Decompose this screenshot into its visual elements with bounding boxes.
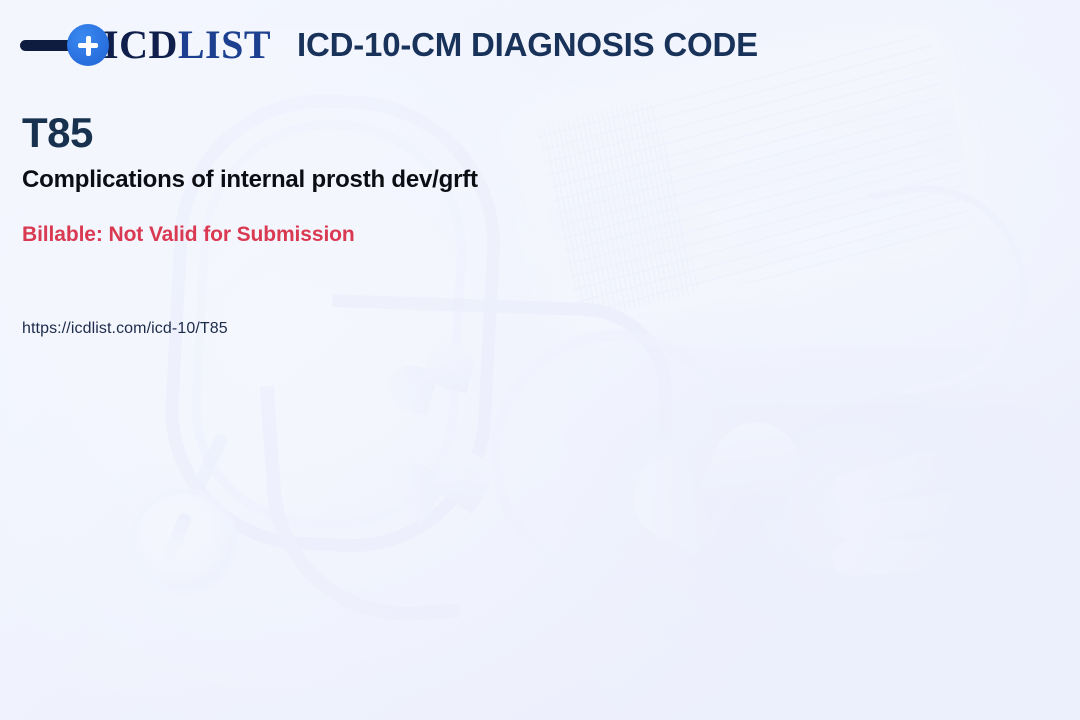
page-title: ICD-10-CM DIAGNOSIS CODE (297, 26, 758, 64)
diagnosis-description: Complications of internal prosth dev/grf… (22, 166, 478, 195)
photo-highlight-left (0, 29, 713, 720)
photo-shadow-bottom (562, 346, 1080, 720)
logo-word-list: LIST (178, 22, 271, 67)
heart-icon (404, 354, 467, 417)
heart-icon (410, 463, 472, 525)
logo-wordmark: ICDLIST (103, 25, 271, 65)
finger-icon (831, 538, 952, 576)
heart-icon (667, 442, 779, 554)
source-url-link[interactable]: https://icdlist.com/icd-10/T85 (22, 320, 228, 338)
hand-icon (727, 367, 1042, 682)
stethoscope-tube-icon (260, 374, 461, 630)
stethoscope-stem-icon (176, 432, 230, 524)
billable-status: Billable: Not Valid for Submission (22, 223, 355, 247)
mask-strap-icon (865, 169, 1042, 395)
finger-icon (828, 446, 951, 511)
icd-code-card: ICDLIST ICD-10-CM DIAGNOSIS CODE T85 Com… (0, 0, 1080, 720)
plus-circle-icon (67, 24, 109, 66)
stethoscope-tube-right-icon (328, 294, 675, 439)
page-header: ICDLIST ICD-10-CM DIAGNOSIS CODE (20, 24, 758, 66)
icdlist-logo[interactable]: ICDLIST (20, 24, 271, 66)
logo-word-icd: ICD (103, 22, 178, 67)
finger-icon (836, 490, 966, 543)
surgical-mask-icon (526, 26, 984, 330)
stethoscope-ring-icon (467, 307, 766, 606)
background-photo (0, 0, 1080, 720)
photo-fade-overlay (0, 0, 1080, 720)
diagnosis-code: T85 (22, 112, 93, 154)
stethoscope-bell-icon (136, 494, 232, 590)
